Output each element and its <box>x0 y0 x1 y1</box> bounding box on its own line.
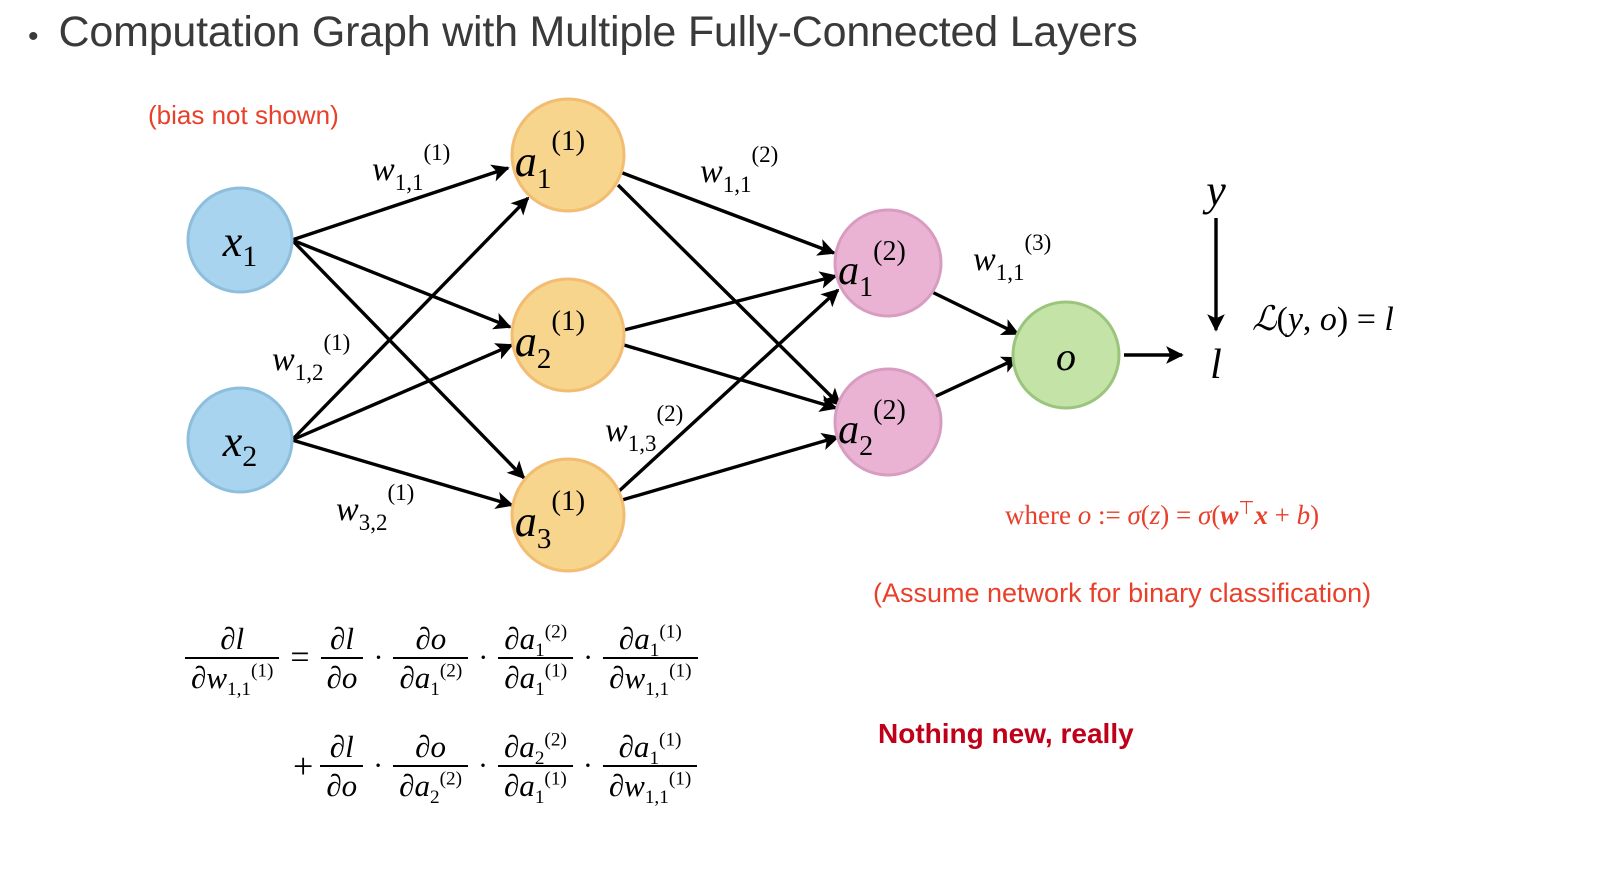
weight-label-w3-11: w1,1(3) <box>973 230 1051 285</box>
svg-text:o: o <box>1056 334 1076 379</box>
node-a1-layer1: a1(1) <box>512 99 624 211</box>
svg-text:a1(1): a1(1) <box>515 125 585 195</box>
edges-hidden2-to-output <box>932 292 1018 398</box>
edges-input-to-hidden1 <box>292 168 528 505</box>
dot-operator: · <box>573 641 603 675</box>
edge-b1-o <box>932 292 1018 334</box>
term2-da2-2-da1-1: ∂a2(2) ∂a1(1) <box>498 728 573 805</box>
edge-x1-a2 <box>292 240 510 327</box>
term2-do-da2-2: ∂o ∂a2(2) <box>393 728 468 805</box>
binary-classification-note: (Assume network for binary classificatio… <box>873 578 1371 609</box>
bias-not-shown-note: (bias not shown) <box>148 100 339 131</box>
label-l-loss: l <box>1210 342 1222 388</box>
edge-x2-a1 <box>292 198 528 440</box>
dot-operator: · <box>468 641 498 675</box>
dot-operator: · <box>468 749 498 783</box>
svg-text:a2(2): a2(2) <box>838 395 906 462</box>
lhs-fraction: ∂l ∂w1,1(1) <box>185 620 279 697</box>
weight-label-w1-32: w3,2(1) <box>336 480 414 535</box>
term-da1-2-da1-1: ∂a1(2) ∂a1(1) <box>498 620 573 697</box>
edges-hidden1-to-hidden2 <box>618 172 840 500</box>
weight-label-w1-12: w1,2(1) <box>272 330 350 385</box>
node-x1: x1 <box>188 188 292 292</box>
dot-operator: · <box>363 641 393 675</box>
where-definition-note: where o := σ(z) = σ(w⊤x + b) <box>1005 497 1319 531</box>
chain-rule-equation: ∂l ∂w1,1(1) = ∂l ∂o · ∂o ∂a1(2) · ∂a1(2)… <box>185 604 698 820</box>
node-a2-layer1: a2(1) <box>512 279 624 391</box>
node-a2-layer2: a2(2) <box>835 369 941 475</box>
term-do-da1-2: ∂o ∂a1(2) <box>393 620 468 697</box>
edge-x1-a3 <box>292 240 524 478</box>
term2-dl-do: ∂l ∂o <box>320 728 363 805</box>
edge-a2-b1 <box>624 276 836 330</box>
term-da1-1-dw1-11: ∂a1(1) ∂w1,1(1) <box>603 620 697 697</box>
edge-a3-b1 <box>618 290 838 492</box>
term-dl-do: ∂l ∂o <box>321 620 364 697</box>
edge-x1-a1 <box>292 168 508 240</box>
dot-operator: · <box>363 749 393 783</box>
equals-sign: = <box>279 639 320 677</box>
page-title: • Computation Graph with Multiple Fully-… <box>28 8 1138 57</box>
node-output-o: o <box>1013 302 1119 408</box>
edge-a2-b2 <box>624 345 836 408</box>
weight-label-w2-13: w1,3(2) <box>605 401 683 456</box>
edge-a1-b2 <box>618 185 840 405</box>
svg-text:a3(1): a3(1) <box>515 485 585 555</box>
label-y-target: y <box>1202 166 1226 215</box>
node-a3-layer1: a3(1) <box>512 459 624 571</box>
nothing-new-note: Nothing new, really <box>878 718 1134 750</box>
svg-text:x1: x1 <box>222 217 258 273</box>
svg-text:x2: x2 <box>222 417 258 473</box>
title-text: Computation Graph with Multiple Fully-Co… <box>59 8 1138 57</box>
equation-row-2: + ∂l ∂o · ∂o ∂a2(2) · ∂a2(2) ∂a1(1) · ∂a… <box>185 712 698 820</box>
bullet-icon: • <box>28 22 39 52</box>
term2-da1-1-dw1-11: ∂a1(1) ∂w1,1(1) <box>603 728 697 805</box>
edge-x2-a3 <box>292 440 512 505</box>
equation-row-1: ∂l ∂w1,1(1) = ∂l ∂o · ∂o ∂a1(2) · ∂a1(2)… <box>185 604 698 712</box>
loss-function-expression: ℒ(y, o) = l <box>1252 301 1394 338</box>
node-x2: x2 <box>188 388 292 492</box>
edge-a3-b2 <box>622 437 838 500</box>
weight-label-w1-11: w1,1(1) <box>372 140 450 195</box>
svg-text:a1(2): a1(2) <box>838 236 906 303</box>
plus-sign: + <box>293 745 320 787</box>
node-a1-layer2: a1(2) <box>835 210 941 316</box>
edge-x2-a2 <box>292 345 512 440</box>
edge-a1-b1 <box>620 172 834 253</box>
edge-b2-o <box>932 358 1018 398</box>
dot-operator: · <box>573 749 603 783</box>
weight-label-w2-11: w1,1(2) <box>700 142 778 197</box>
svg-text:a2(1): a2(1) <box>515 305 585 375</box>
